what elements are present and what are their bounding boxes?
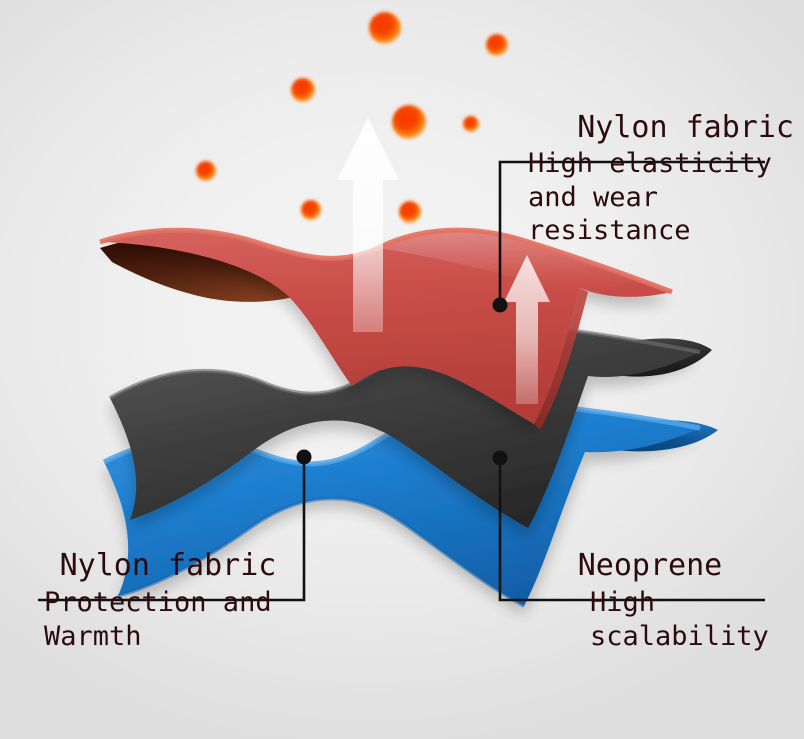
particle-group xyxy=(196,12,508,223)
particle-icon xyxy=(291,78,315,102)
particle-icon xyxy=(486,34,508,56)
diagram-canvas: Nylon fabric High elasticity and wear re… xyxy=(0,0,804,739)
callout-nylon-top-description: High elasticity and wear resistance xyxy=(500,144,800,247)
desc-line: resistance xyxy=(528,214,800,247)
desc-line: Protection and xyxy=(44,586,318,619)
desc-line: High xyxy=(590,586,800,619)
callout-nylon-bottom: Nylon fabric Protection and Warmth xyxy=(18,550,318,653)
desc-line: Warmth xyxy=(44,620,318,653)
particle-icon xyxy=(399,201,421,223)
desc-line: and wear xyxy=(528,181,800,214)
callout-nylon-bottom-title: Nylon fabric xyxy=(18,550,318,582)
callout-neoprene-title: Neoprene xyxy=(500,550,800,582)
desc-line: scalability xyxy=(590,620,800,653)
callout-nylon-top: Nylon fabric High elasticity and wear re… xyxy=(500,112,800,248)
particle-icon xyxy=(463,116,479,132)
particle-icon xyxy=(369,12,401,44)
leader-dot-nylon-top xyxy=(493,298,508,313)
callout-neoprene-description: High scalability xyxy=(500,582,800,653)
leader-dot-nylon-bottom xyxy=(297,450,312,465)
particle-icon xyxy=(392,105,426,139)
callout-nylon-bottom-description: Protection and Warmth xyxy=(18,582,318,653)
callout-nylon-top-title: Nylon fabric xyxy=(500,112,800,144)
particle-icon xyxy=(301,200,321,220)
particle-icon xyxy=(196,161,216,181)
desc-line: High elasticity xyxy=(528,147,800,180)
leader-dot-neoprene xyxy=(493,451,508,466)
callout-neoprene: Neoprene High scalability xyxy=(500,550,800,653)
